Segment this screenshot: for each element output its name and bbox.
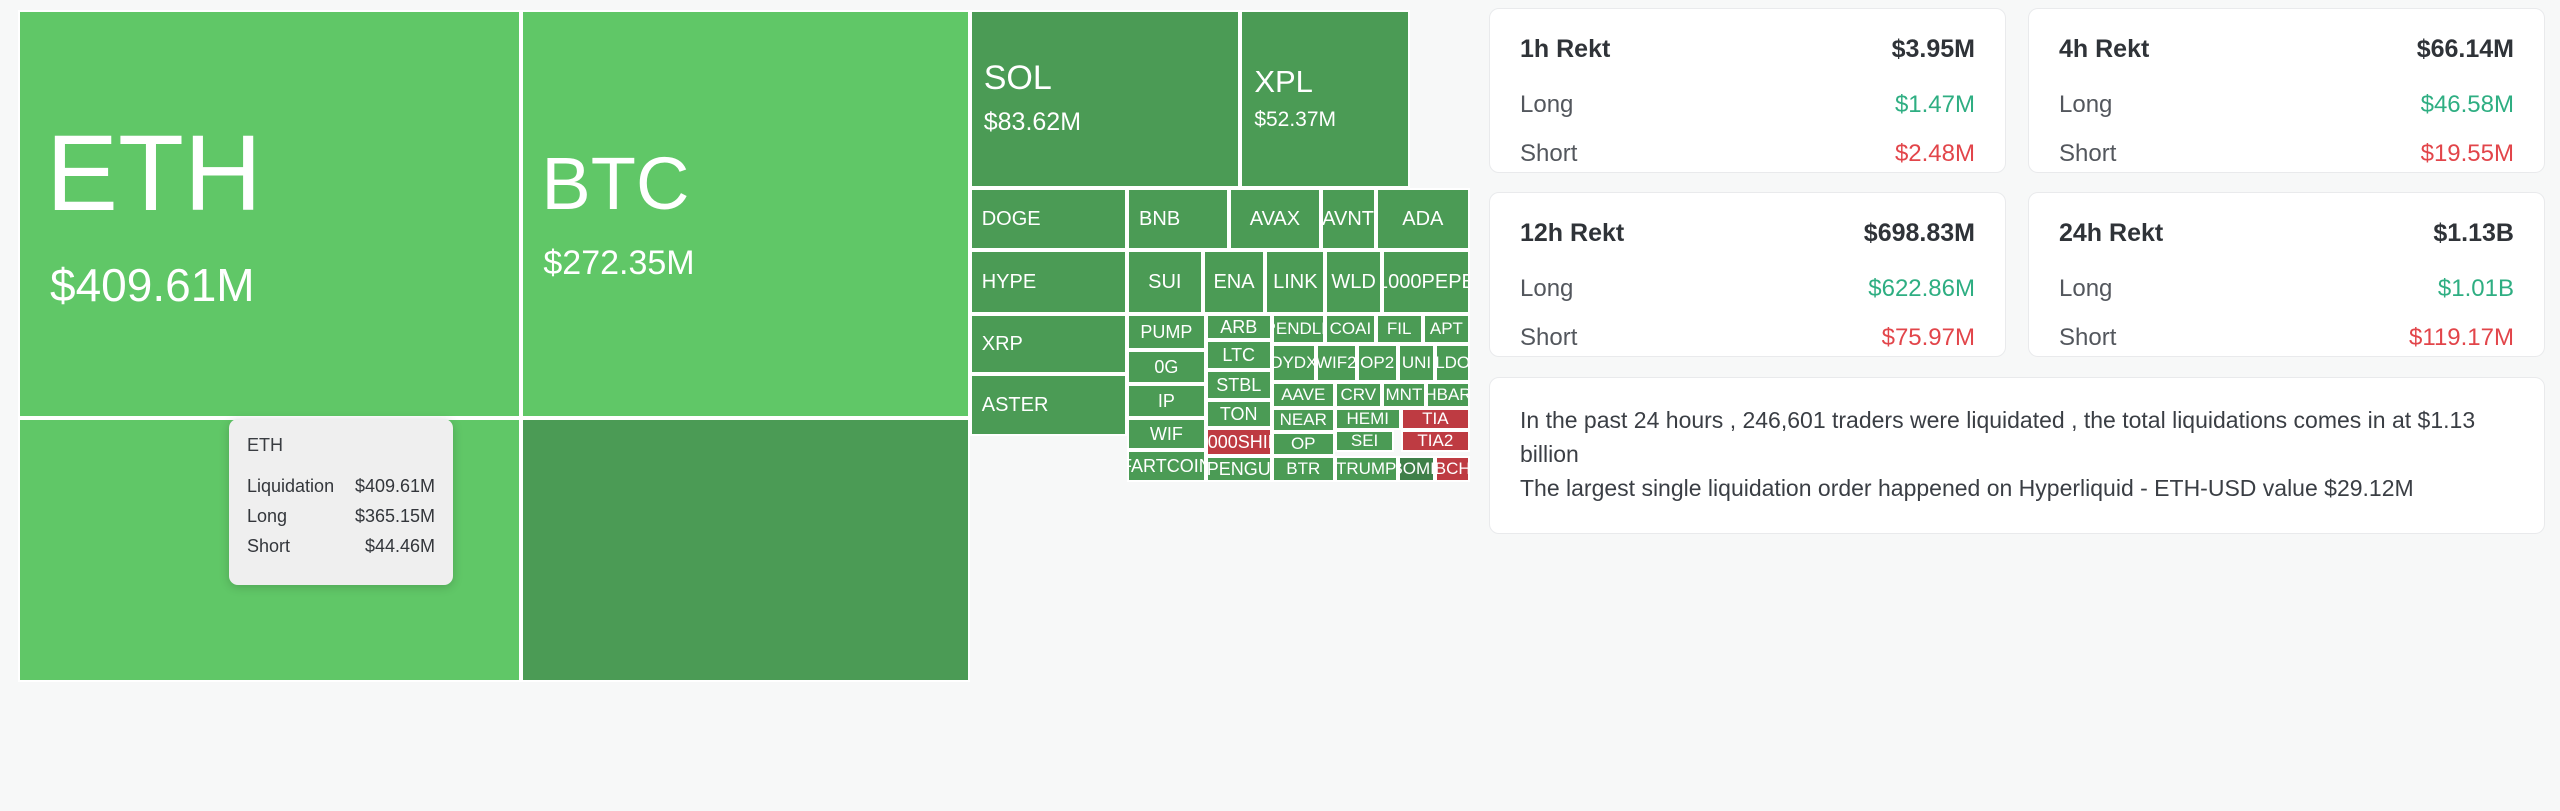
rekt-card-short-value: $119.17M xyxy=(2409,324,2514,352)
treemap-tile-value: $272.35M xyxy=(523,244,694,283)
treemap-tile-symbol: BTC xyxy=(523,145,689,223)
treemap-tile-symbol: ASTER xyxy=(972,395,1049,416)
rekt-card-12h: 12h Rekt$698.83MLong$622.86MShort$75.97M xyxy=(1489,192,2006,357)
tooltip-short-label: Short xyxy=(247,536,290,557)
treemap-tile-symbol: OP xyxy=(1291,435,1316,453)
treemap-tile-xrp[interactable]: XRP xyxy=(970,314,1127,374)
treemap-tile-op2[interactable]: OP2 xyxy=(1357,344,1398,382)
treemap-tile-symbol: AAVE xyxy=(1281,386,1325,404)
treemap-tile-symbol: CRV xyxy=(1341,386,1377,404)
rekt-card-long-label: Long xyxy=(2059,91,2112,119)
rekt-card-header: 12h Rekt$698.83M xyxy=(1520,219,1975,248)
treemap-tile-symbol: COAI xyxy=(1330,320,1372,338)
rekt-card-short-label: Short xyxy=(2059,324,2116,352)
treemap-tile-symbol: SOL xyxy=(972,61,1052,97)
treemap-tile-fil[interactable]: FIL xyxy=(1376,314,1423,344)
treemap-tile-symbol: ARB xyxy=(1220,318,1257,337)
rekt-card-total: $1.13B xyxy=(2433,219,2514,248)
treemap-tile-symbol: AVNT xyxy=(1322,209,1374,230)
rekt-card-long-label: Long xyxy=(1520,91,1573,119)
treemap-tile-symbol: AVAX xyxy=(1250,209,1300,230)
rekt-card-short-label: Short xyxy=(1520,140,1577,168)
rekt-card-long-row: Long$46.58M xyxy=(2059,91,2514,119)
liquidation-summary-card: In the past 24 hours , 246,601 traders w… xyxy=(1489,377,2545,534)
rekt-card-title: 4h Rekt xyxy=(2059,35,2149,64)
rekt-card-1h: 1h Rekt$3.95MLong$1.47MShort$2.48M xyxy=(1489,8,2006,173)
treemap-tile-tia[interactable]: TIA xyxy=(1401,408,1470,430)
treemap-tile-avax[interactable]: AVAX xyxy=(1229,188,1320,250)
rekt-card-24h: 24h Rekt$1.13BLong$1.01BShort$119.17M xyxy=(2028,192,2545,357)
treemap-tile-symbol: LDO xyxy=(1435,354,1470,372)
treemap-tile-dydx[interactable]: DYDX xyxy=(1272,344,1316,382)
treemap-tile-near[interactable]: NEAR xyxy=(1272,408,1335,432)
treemap-tile-avnt[interactable]: AVNT xyxy=(1321,188,1376,250)
treemap-tile-ip[interactable]: IP xyxy=(1127,384,1206,418)
treemap-tile-symbol: WIF xyxy=(1150,425,1183,444)
treemap-tile-apt[interactable]: APT xyxy=(1423,314,1470,344)
rekt-card-long-value: $622.86M xyxy=(1868,275,1975,303)
tooltip-long-value: $365.15M xyxy=(355,506,435,527)
treemap-tile-sei[interactable]: SEI xyxy=(1335,430,1395,452)
rekt-card-short-row: Short$2.48M xyxy=(1520,140,1975,168)
rekt-card-header: 4h Rekt$66.14M xyxy=(2059,35,2514,64)
treemap-tile-link[interactable]: LINK xyxy=(1265,250,1325,314)
treemap-tile-sol[interactable]: SOL$83.62M xyxy=(970,10,1241,188)
treemap-tile-hbar[interactable]: HBAR xyxy=(1426,382,1470,408)
summary-line-1: In the past 24 hours , 246,601 traders w… xyxy=(1520,404,2514,472)
tooltip-row-liquidation: Liquidation $409.61M xyxy=(247,476,435,497)
treemap-tile-symbol: SEI xyxy=(1351,432,1378,450)
treemap-tile-coai[interactable]: COAI xyxy=(1325,314,1375,344)
rekt-card-long-row: Long$1.47M xyxy=(1520,91,1975,119)
rekt-card-short-row: Short$119.17M xyxy=(2059,324,2514,352)
stats-panel: 1h Rekt$3.95MLong$1.47MShort$2.48M4h Rek… xyxy=(1489,8,2545,534)
treemap-tile-symbol: DYDX xyxy=(1272,354,1316,372)
treemap-tile-symbol: ENA xyxy=(1213,272,1254,293)
treemap-tile-eth[interactable]: ETH$409.61M xyxy=(18,10,521,418)
treemap-tile-btr[interactable]: BTR xyxy=(1272,456,1335,482)
treemap-tile-symbol: UNI xyxy=(1402,354,1431,372)
treemap-tile-symbol: ADA xyxy=(1402,209,1443,230)
treemap-tile-symbol: PENGU xyxy=(1207,460,1271,479)
rekt-card-short-label: Short xyxy=(1520,324,1577,352)
treemap-tile-value: $83.62M xyxy=(972,108,1081,137)
treemap-tile-symbol: ETH xyxy=(20,116,262,229)
treemap-tile-btc[interactable]: BTC$272.35M xyxy=(521,10,969,418)
treemap-tile-symbol: LTC xyxy=(1222,346,1255,365)
treemap-tile-uni[interactable]: UNI xyxy=(1398,344,1436,382)
treemap-tile-pengu[interactable]: PENGU xyxy=(1206,456,1272,482)
treemap-tile-pump[interactable]: PUMP xyxy=(1127,314,1206,350)
treemap-tile-symbol: 1000PEPE xyxy=(1382,272,1470,293)
treemap-tile-crv[interactable]: CRV xyxy=(1335,382,1382,408)
rekt-card-long-label: Long xyxy=(1520,275,1573,303)
treemap-tile-trump[interactable]: TRUMP xyxy=(1335,456,1398,482)
treemap-tile-symbol: HYPE xyxy=(972,272,1036,293)
treemap-tile-hemi[interactable]: HEMI xyxy=(1335,408,1401,430)
treemap-tile-tia2[interactable]: TIA2 xyxy=(1401,430,1470,452)
treemap-tile-symbol: BCH xyxy=(1435,460,1470,478)
treemap-tile-symbol: XRP xyxy=(972,334,1023,355)
treemap-tile-ada[interactable]: ADA xyxy=(1376,188,1470,250)
treemap-tile-symbol: HEMI xyxy=(1346,410,1389,428)
tooltip-short-value: $44.46M xyxy=(365,536,435,557)
treemap-tile-symbol: PUMP xyxy=(1140,323,1192,342)
rekt-card-long-value: $46.58M xyxy=(2421,91,2514,119)
treemap-tile-aster[interactable]: ASTER xyxy=(970,374,1127,436)
rekt-card-short-label: Short xyxy=(2059,140,2116,168)
treemap-tile-ltc[interactable]: LTC xyxy=(1206,340,1272,370)
rekt-card-long-value: $1.01B xyxy=(2438,275,2514,303)
rekt-card-total: $66.14M xyxy=(2417,35,2514,64)
treemap-tile-symbol: OP2 xyxy=(1360,354,1394,372)
treemap-tile-symbol: IP xyxy=(1158,392,1175,411)
rekt-card-grid: 1h Rekt$3.95MLong$1.47MShort$2.48M4h Rek… xyxy=(1489,8,2545,357)
treemap-tile-symbol: TIA xyxy=(1422,410,1448,428)
treemap-tile-hype[interactable]: HYPE xyxy=(970,250,1127,314)
tooltip-row-short: Short $44.46M xyxy=(247,536,435,557)
treemap-tile-ton[interactable]: TON xyxy=(1206,400,1272,428)
treemap-tile-symbol: TIA2 xyxy=(1417,432,1453,450)
rekt-card-short-value: $19.55M xyxy=(2421,140,2514,168)
treemap-tile-symbol: FARTCOIN xyxy=(1127,457,1206,476)
treemap-tile-ena[interactable]: ENA xyxy=(1203,250,1266,314)
treemap-tile-symbol: PENDLE xyxy=(1272,320,1325,338)
treemap-tile-symbol: TON xyxy=(1220,405,1258,424)
treemap-tile-symbol: 0G xyxy=(1154,358,1178,377)
tooltip-liquidation-value: $409.61M xyxy=(355,476,435,497)
treemap-tile-bnb[interactable]: BNB xyxy=(1127,188,1229,250)
tooltip-row-long: Long $365.15M xyxy=(247,506,435,527)
rekt-card-short-row: Short$75.97M xyxy=(1520,324,1975,352)
rekt-card-title: 12h Rekt xyxy=(1520,219,1624,248)
treemap-tile-bome[interactable]: BOME xyxy=(1398,456,1436,482)
treemap-tile-op[interactable]: OP xyxy=(1272,432,1335,456)
liquidation-treemap[interactable]: ETH$409.61MBTC$272.35MSOL$83.62MXPL$52.3… xyxy=(18,10,1470,682)
treemap-tile-wif2[interactable]: WIF2 xyxy=(1316,344,1357,382)
treemap-tile-symbol: SUI xyxy=(1148,272,1181,293)
treemap-tile-value: $52.37M xyxy=(1242,108,1336,132)
treemap-tile-mnt[interactable]: MNT xyxy=(1382,382,1426,408)
treemap-tile-symbol: TRUMP xyxy=(1336,460,1396,478)
rekt-card-header: 24h Rekt$1.13B xyxy=(2059,219,2514,248)
treemap-tile-bch[interactable]: BCH xyxy=(1435,456,1470,482)
tooltip-title: ETH xyxy=(247,435,435,456)
treemap-tile-1000pepe[interactable]: 1000PEPE xyxy=(1382,250,1470,314)
treemap-tile-symbol: NEAR xyxy=(1280,411,1327,429)
treemap-tile-symbol: WLD xyxy=(1331,272,1375,293)
treemap-tile-btc2[interactable] xyxy=(521,418,969,682)
treemap-tile-symbol: WIF2 xyxy=(1316,354,1357,372)
treemap-tooltip: ETH Liquidation $409.61M Long $365.15M S… xyxy=(229,419,453,585)
treemap-tile-symbol: FIL xyxy=(1387,320,1412,338)
rekt-card-header: 1h Rekt$3.95M xyxy=(1520,35,1975,64)
treemap-tile-0g[interactable]: 0G xyxy=(1127,350,1206,384)
treemap-tile-symbol: BNB xyxy=(1129,209,1180,230)
treemap-tile-wld[interactable]: WLD xyxy=(1325,250,1382,314)
rekt-card-total: $698.83M xyxy=(1864,219,1975,248)
summary-line-2: The largest single liquidation order hap… xyxy=(1520,472,2514,506)
treemap-tile-ldo[interactable]: LDO xyxy=(1435,344,1470,382)
treemap-tile-sui[interactable]: SUI xyxy=(1127,250,1203,314)
treemap-tile-fartcoin[interactable]: FARTCOIN xyxy=(1127,450,1206,482)
rekt-card-total: $3.95M xyxy=(1892,35,1975,64)
rekt-card-4h: 4h Rekt$66.14MLong$46.58MShort$19.55M xyxy=(2028,8,2545,173)
rekt-card-short-value: $2.48M xyxy=(1895,140,1975,168)
treemap-tile-symbol: LINK xyxy=(1273,272,1317,293)
rekt-card-long-row: Long$622.86M xyxy=(1520,275,1975,303)
treemap-tile-symbol: XPL xyxy=(1242,66,1313,99)
treemap-tile-doge[interactable]: DOGE xyxy=(970,188,1127,250)
treemap-tile-symbol: 1000SHIB xyxy=(1206,433,1272,452)
treemap-tile-symbol: BOME xyxy=(1398,460,1436,478)
treemap-tile-symbol: BTR xyxy=(1286,460,1320,478)
treemap-tile-arb[interactable]: ARB xyxy=(1206,314,1272,340)
treemap-tile-symbol: HBAR xyxy=(1426,386,1470,404)
rekt-card-title: 24h Rekt xyxy=(2059,219,2163,248)
rekt-card-long-value: $1.47M xyxy=(1895,91,1975,119)
treemap-tile-pendle[interactable]: PENDLE xyxy=(1272,314,1325,344)
tooltip-long-label: Long xyxy=(247,506,287,527)
treemap-tile-wif[interactable]: WIF xyxy=(1127,418,1206,450)
treemap-tile-symbol: APT xyxy=(1430,320,1463,338)
treemap-tile-symbol: DOGE xyxy=(972,209,1041,230)
treemap-tile-1000shib[interactable]: 1000SHIB xyxy=(1206,428,1272,456)
rekt-card-long-row: Long$1.01B xyxy=(2059,275,2514,303)
rekt-card-short-value: $75.97M xyxy=(1882,324,1975,352)
tooltip-liquidation-label: Liquidation xyxy=(247,476,334,497)
rekt-card-long-label: Long xyxy=(2059,275,2112,303)
rekt-card-short-row: Short$19.55M xyxy=(2059,140,2514,168)
treemap-tile-xpl[interactable]: XPL$52.37M xyxy=(1240,10,1410,188)
treemap-tile-symbol: MNT xyxy=(1386,386,1423,404)
treemap-tile-stbl[interactable]: STBL xyxy=(1206,370,1272,400)
treemap-tile-symbol: STBL xyxy=(1216,376,1261,395)
treemap-tile-value: $409.61M xyxy=(20,259,255,312)
treemap-tile-aave[interactable]: AAVE xyxy=(1272,382,1335,408)
rekt-card-title: 1h Rekt xyxy=(1520,35,1610,64)
